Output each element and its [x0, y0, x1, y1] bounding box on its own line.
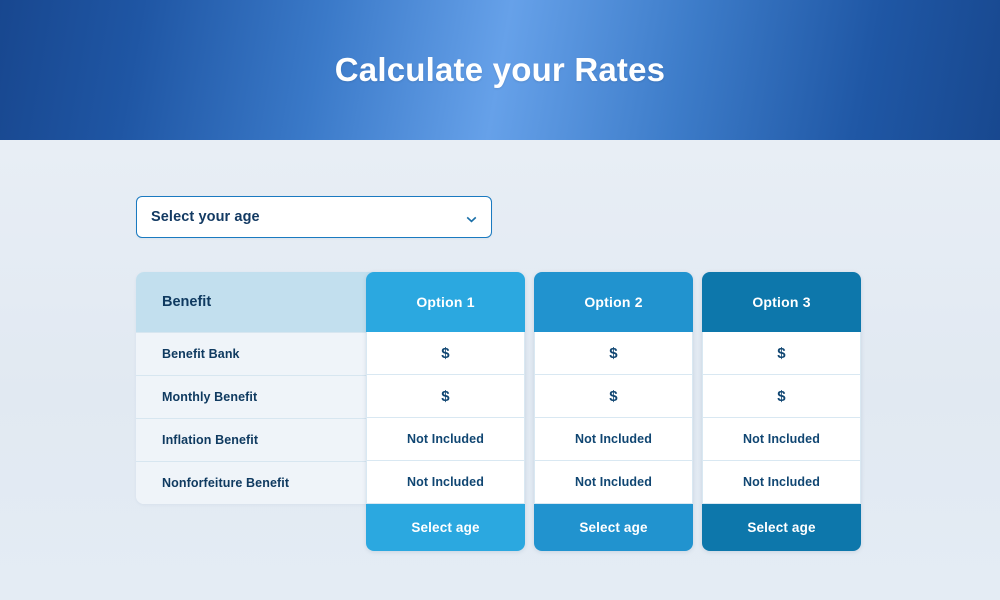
select-age-button-3[interactable]: Select age: [702, 504, 861, 551]
option-cell-value: Not Included: [407, 475, 484, 489]
select-age-button-label: Select age: [747, 520, 815, 535]
option-cell: Not Included: [702, 418, 861, 461]
rates-comparison-table: Benefit Benefit Bank Monthly Benefit Inf…: [0, 140, 1000, 600]
option-column-header: Option 1: [366, 272, 525, 332]
option-cell-value: $: [441, 345, 449, 362]
option-cell-value: $: [777, 388, 785, 405]
select-age-button-label: Select age: [411, 520, 479, 535]
option-cell: Not Included: [366, 418, 525, 461]
benefit-row-label: Benefit Bank: [162, 347, 240, 361]
table-row: Nonforfeiture Benefit: [136, 461, 376, 504]
option-column-header: Option 2: [534, 272, 693, 332]
option-cell-value: Not Included: [575, 475, 652, 489]
select-age-button-label: Select age: [579, 520, 647, 535]
page-title: Calculate your Rates: [335, 51, 665, 89]
option-cell-value: Not Included: [407, 432, 484, 446]
benefit-row-label: Inflation Benefit: [162, 433, 258, 447]
option-cell-value: Not Included: [743, 432, 820, 446]
table-row: Benefit Bank: [136, 332, 376, 375]
option-column-header: Option 3: [702, 272, 861, 332]
option-cell: $: [702, 375, 861, 418]
benefit-column-header-label: Benefit: [162, 294, 211, 310]
table-row: Inflation Benefit: [136, 418, 376, 461]
option-column-header-label: Option 3: [752, 294, 810, 310]
hero-banner: Calculate your Rates: [0, 0, 1000, 140]
option-column-3: Option 3 $ $ Not Included Not Included S…: [702, 272, 861, 551]
option-column-1: Option 1 $ $ Not Included Not Included S…: [366, 272, 525, 551]
table-row: Monthly Benefit: [136, 375, 376, 418]
option-cell: $: [366, 332, 525, 375]
option-cell-value: $: [609, 345, 617, 362]
benefit-column: Benefit Benefit Bank Monthly Benefit Inf…: [136, 272, 376, 504]
option-cell: $: [702, 332, 861, 375]
option-cell: Not Included: [702, 461, 861, 504]
option-cell-value: Not Included: [575, 432, 652, 446]
benefit-column-header: Benefit: [136, 272, 376, 332]
option-cell-value: $: [777, 345, 785, 362]
option-column-2: Option 2 $ $ Not Included Not Included S…: [534, 272, 693, 551]
option-column-header-label: Option 2: [584, 294, 642, 310]
benefit-row-label: Nonforfeiture Benefit: [162, 476, 289, 490]
option-cell: $: [534, 375, 693, 418]
option-cell-value: $: [609, 388, 617, 405]
option-cell: Not Included: [534, 418, 693, 461]
option-cell-value: Not Included: [743, 475, 820, 489]
option-cell: $: [366, 375, 525, 418]
select-age-button-2[interactable]: Select age: [534, 504, 693, 551]
option-cell: Not Included: [534, 461, 693, 504]
option-column-header-label: Option 1: [416, 294, 474, 310]
option-cell-value: $: [441, 388, 449, 405]
page-body: Select your age Benefit Benefit Bank Mon…: [0, 140, 1000, 600]
select-age-button-1[interactable]: Select age: [366, 504, 525, 551]
option-cell: $: [534, 332, 693, 375]
benefit-row-label: Monthly Benefit: [162, 390, 257, 404]
option-cell: Not Included: [366, 461, 525, 504]
